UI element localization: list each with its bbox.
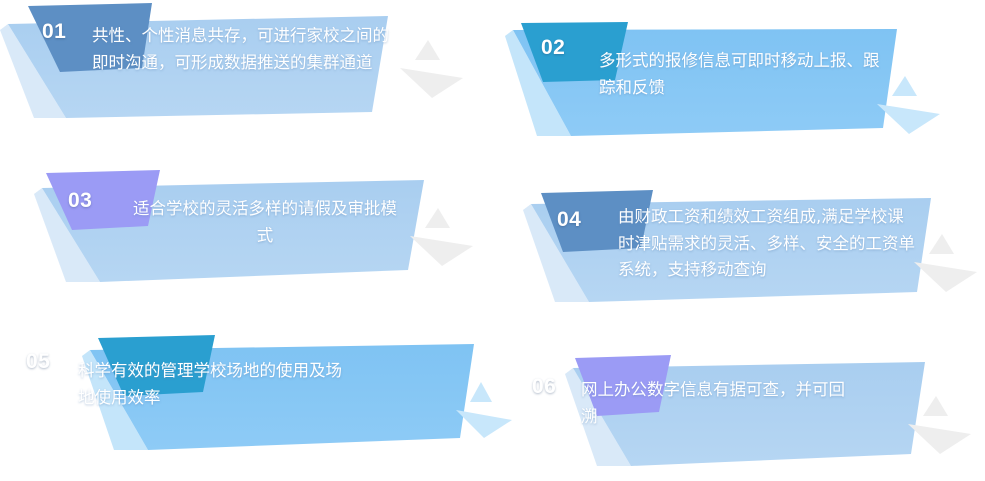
banner-shape-05 xyxy=(0,320,492,480)
banner-shape-06 xyxy=(493,320,985,480)
banner-svg-05 xyxy=(0,320,492,480)
banner-shape-03 xyxy=(0,160,492,320)
banner-svg-06 xyxy=(493,320,985,480)
banner-shape-01 xyxy=(0,0,492,160)
banner-svg-02 xyxy=(493,0,985,160)
feature-banner-03[interactable]: 03 适合学校的灵活多样的请假及审批模式 xyxy=(0,160,492,320)
banner-svg-01 xyxy=(0,0,492,160)
feature-banner-01[interactable]: 01 共性、个性消息共存，可进行家校之间的即时沟通，可形成数据推送的集群通道 xyxy=(0,0,492,160)
decorative-arrow-right-02 xyxy=(877,104,940,134)
feature-banner-04[interactable]: 04 由财政工资和绩效工资组成,满足学校课时津贴需求的灵活、多样、安全的工资单系… xyxy=(493,160,985,320)
feature-banner-02[interactable]: 02 多形式的报修信息可即时移动上报、跟踪和反馈 xyxy=(493,0,985,160)
decorative-arrow-up-04 xyxy=(929,234,954,254)
infographic-canvas: 01 共性、个性消息共存，可进行家校之间的即时沟通，可形成数据推送的集群通道 0… xyxy=(0,0,985,481)
decorative-arrow-up-05 xyxy=(470,382,492,402)
decorative-arrow-up-01 xyxy=(415,40,440,60)
feature-banner-06[interactable]: 06 网上办公数字信息有据可查，并可回溯 xyxy=(493,320,985,480)
decorative-arrow-up-02 xyxy=(892,76,917,96)
decorative-arrow-right-01 xyxy=(400,68,463,98)
decorative-arrow-right-03 xyxy=(410,236,473,266)
decorative-arrow-up-06 xyxy=(923,396,948,416)
decorative-arrow-right-04 xyxy=(914,262,977,292)
decorative-arrow-right-06 xyxy=(908,424,971,454)
banner-shape-04 xyxy=(493,160,985,320)
banner-shape-02 xyxy=(493,0,985,160)
decorative-arrow-up-03 xyxy=(425,208,450,228)
banner-svg-03 xyxy=(0,160,492,320)
banner-svg-04 xyxy=(493,160,985,320)
feature-banner-05[interactable]: 05 科学有效的管理学校场地的使用及场地使用效率 xyxy=(0,320,492,480)
